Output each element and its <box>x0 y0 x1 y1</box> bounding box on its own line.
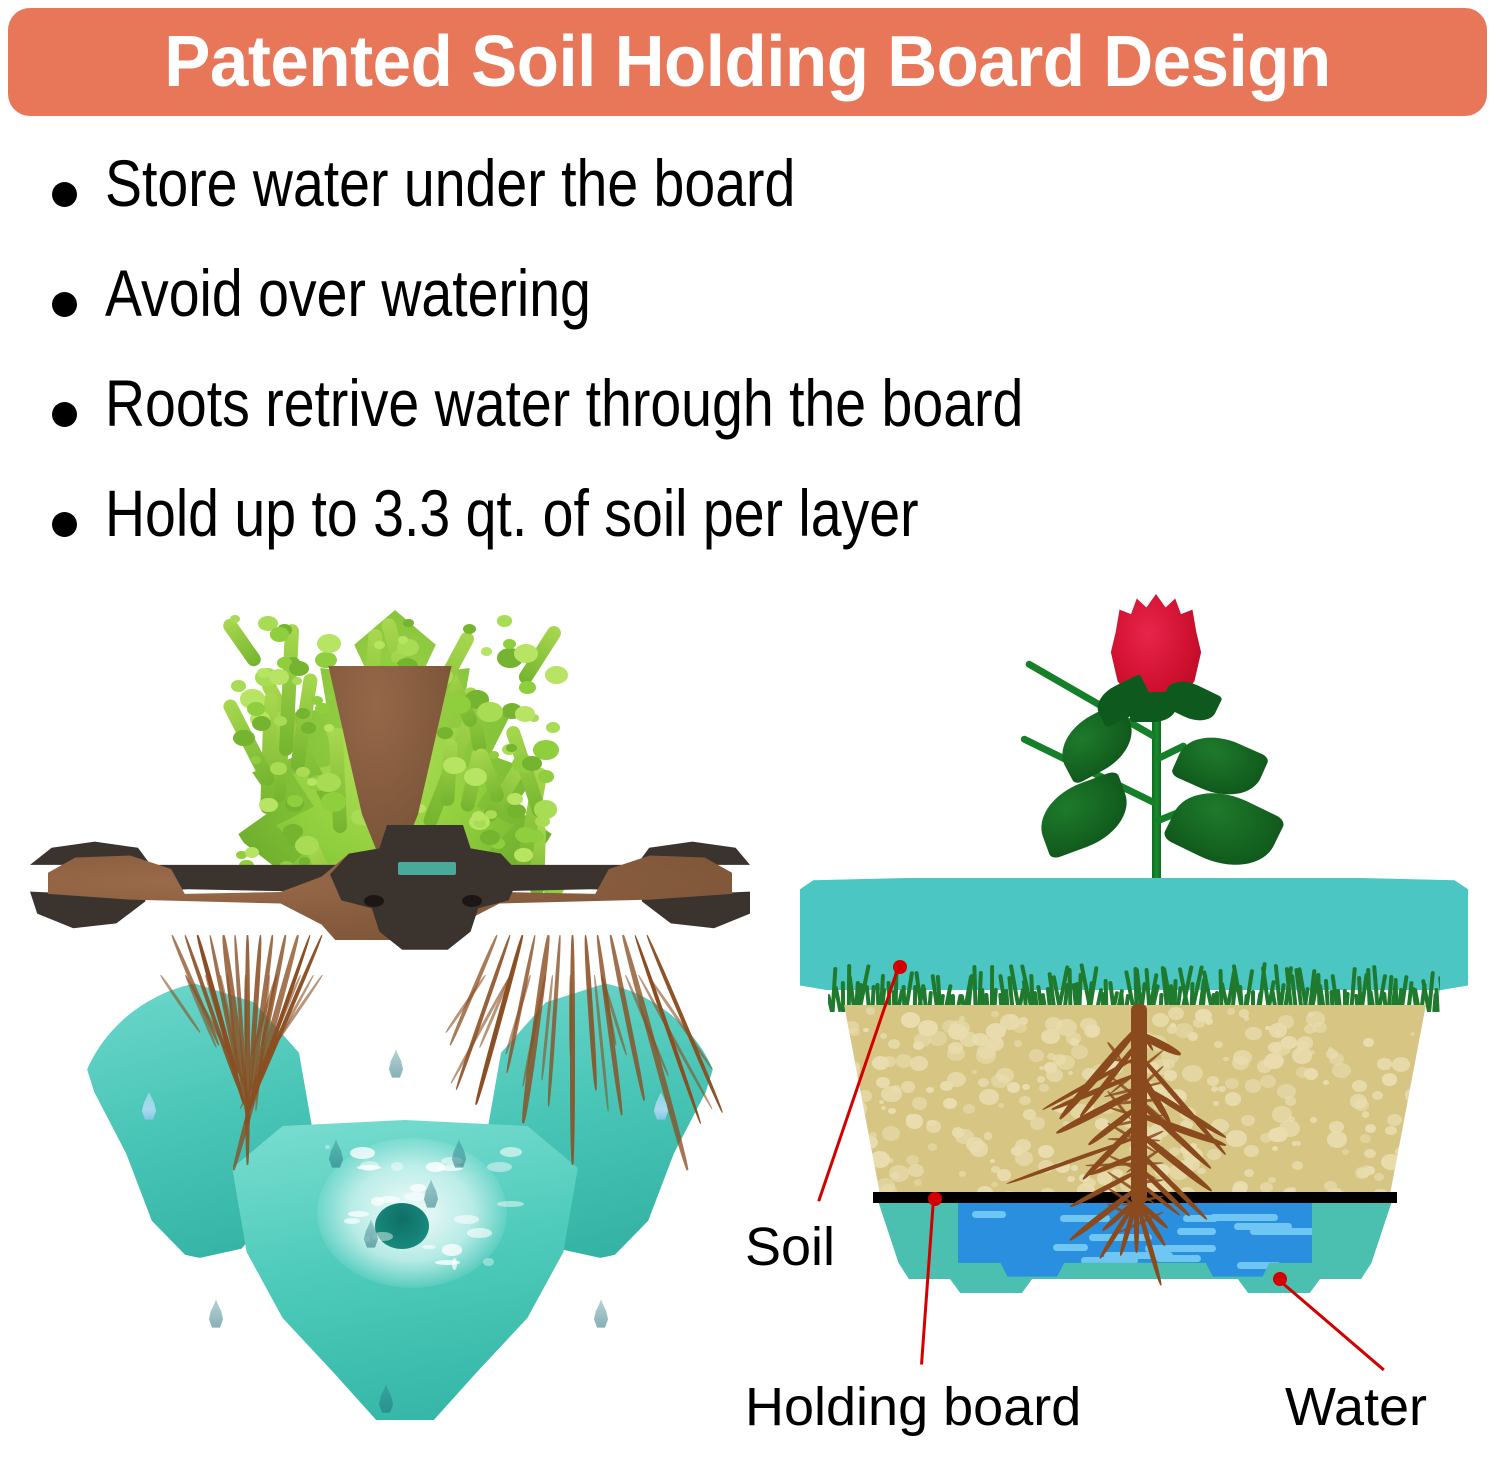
soil-speck <box>990 1159 995 1163</box>
soil-speck <box>998 1103 1004 1108</box>
soil-speck <box>1342 1149 1349 1155</box>
splash-streak <box>325 1145 330 1149</box>
callout-dot-holding-board <box>928 1192 942 1206</box>
soil-speck <box>914 1033 930 1046</box>
soil-speck <box>1328 1047 1333 1051</box>
soil-speck <box>1071 1165 1079 1171</box>
soil-speck <box>1381 1154 1401 1170</box>
soil-speck <box>838 1067 856 1081</box>
soil-speck <box>1327 1131 1347 1148</box>
soil-speck <box>858 1090 872 1102</box>
soil-speck <box>880 1033 887 1039</box>
soil-speck <box>947 1046 966 1062</box>
foliage-leaf <box>538 770 554 783</box>
list-item-label: Store water under the board <box>105 150 795 216</box>
soil-speck <box>870 1151 890 1168</box>
soil-speck <box>1218 1086 1226 1093</box>
soil-speck <box>947 1072 966 1087</box>
soil-speck <box>991 1011 999 1018</box>
soil-speck <box>1085 1024 1100 1037</box>
soil-speck <box>912 1097 928 1110</box>
foliage-leaf <box>230 615 240 623</box>
soil-speck <box>1323 1080 1329 1085</box>
foliage-leaf <box>311 696 323 705</box>
foliage-leaf <box>472 811 485 821</box>
foliage-leaf <box>231 680 247 692</box>
soil-speck <box>1399 1185 1418 1197</box>
soil-speck <box>1364 1149 1376 1159</box>
board-hole-icon <box>462 895 482 907</box>
water-wave <box>1210 1214 1277 1221</box>
soil-speck <box>1068 1071 1073 1075</box>
soil-speck <box>982 1033 1002 1049</box>
soil-speck <box>1272 1146 1278 1151</box>
soil-speck <box>1365 1124 1376 1133</box>
splash-streak <box>467 1228 491 1238</box>
soil-speck <box>1426 1023 1434 1029</box>
soil-speck <box>1207 1149 1221 1160</box>
soil-speck <box>1426 1122 1437 1131</box>
rose-sepal <box>1130 692 1176 722</box>
soil-speck <box>908 1164 924 1177</box>
foliage-leaf <box>546 722 560 733</box>
soil-speck <box>914 1179 923 1186</box>
soil-speck <box>1232 1056 1250 1070</box>
foliage-leaf <box>477 702 502 722</box>
rose-plant <box>1060 588 1260 918</box>
soil-speck <box>1226 1130 1247 1147</box>
soil-speck <box>1414 1082 1426 1092</box>
bullet-icon <box>52 402 77 427</box>
board-slot <box>398 862 456 875</box>
soil-speck <box>1015 1139 1032 1153</box>
soil-speck <box>1363 1038 1374 1047</box>
soil-speck <box>1241 1115 1255 1127</box>
soil-speck <box>1223 1057 1229 1062</box>
soil-speck <box>1296 1067 1309 1078</box>
header-banner: Patented Soil Holding Board Design <box>8 8 1487 116</box>
soil-speck <box>952 1127 965 1137</box>
soil-speck <box>979 1089 999 1105</box>
list-item: Hold up to 3.3 qt. of soil per layer <box>52 480 1472 590</box>
soil-speck <box>1401 1144 1411 1152</box>
soil-speck <box>1056 1055 1074 1070</box>
splash-streak <box>452 1258 457 1270</box>
soil-speck <box>863 1028 869 1033</box>
splash-streak <box>442 1244 463 1255</box>
soil-speck <box>1429 1155 1438 1167</box>
soil-speck <box>1357 1168 1370 1179</box>
soil-speck <box>1071 1045 1088 1059</box>
soil-speck <box>846 1195 866 1197</box>
root-strand <box>244 975 247 1056</box>
soil-speck <box>1332 1063 1351 1078</box>
soil-speck <box>896 1054 912 1067</box>
water-wave <box>1145 1245 1216 1252</box>
soil-speck <box>1428 1036 1438 1049</box>
water-wave <box>1177 1228 1216 1235</box>
soil-speck <box>1009 1014 1016 1020</box>
soil-speck <box>959 1171 966 1177</box>
foliage-leaf <box>324 724 334 732</box>
foliage-leaf <box>507 804 526 819</box>
foliage-leaf <box>443 757 466 775</box>
bullet-icon <box>52 292 77 317</box>
pot-cross-section-diagram: Soil Holding board Water <box>760 580 1500 1469</box>
soil-speck <box>1382 1073 1397 1086</box>
list-item-label: Avoid over watering <box>105 260 591 326</box>
soil-speck <box>849 1127 857 1133</box>
water-wave <box>1089 1234 1152 1241</box>
soil-speck <box>1019 1017 1029 1025</box>
soil-speck <box>1374 1173 1384 1181</box>
soil-speck <box>972 1070 977 1074</box>
rose-leaf <box>1030 770 1138 860</box>
soil-speck <box>1067 1176 1075 1182</box>
soil-speck <box>1019 1096 1031 1106</box>
list-item-label: Roots retrive water through the board <box>105 370 1023 436</box>
soil-speck <box>926 1087 934 1093</box>
soil-speck <box>1245 1027 1262 1041</box>
soil-speck <box>1207 1076 1219 1086</box>
soil-speck <box>888 1108 895 1114</box>
soil-speck <box>906 1114 916 1122</box>
foliage-leaf <box>534 800 558 818</box>
soil-speck <box>1410 1032 1415 1036</box>
soil-speck <box>1372 1091 1384 1101</box>
soil-speck <box>1014 1040 1022 1046</box>
foliage-leaf <box>545 666 568 684</box>
soil-speck <box>1427 1093 1438 1110</box>
soil-speck <box>1182 1065 1203 1082</box>
soil-speck <box>876 1064 881 1068</box>
foliage-leaf <box>259 798 278 813</box>
soil-speck <box>882 1126 900 1141</box>
splash-streak <box>454 1215 478 1224</box>
soil-speck <box>1296 1141 1302 1146</box>
soil-speck <box>901 1081 915 1093</box>
soil-speck <box>1308 1050 1314 1055</box>
bullet-icon <box>52 182 77 207</box>
soil-speck <box>1352 1080 1367 1092</box>
foliage-leaf <box>307 778 317 786</box>
soil-speck <box>978 1078 989 1087</box>
splash-streak <box>483 1258 494 1266</box>
soil-speck <box>844 1021 858 1033</box>
soil-speck <box>1414 1081 1423 1089</box>
soil-speck <box>888 1039 900 1049</box>
water-wave <box>972 1211 1006 1218</box>
splash-streak <box>404 1192 426 1201</box>
soil-speck <box>1405 1089 1417 1099</box>
soil-speck <box>1168 1007 1184 1020</box>
soil-speck <box>1415 1085 1428 1095</box>
foliage-leaf <box>481 647 493 656</box>
soil-speck <box>1329 1121 1344 1133</box>
soil-speck <box>1244 1145 1259 1157</box>
callout-line-water <box>1278 1279 1385 1371</box>
soil-speck <box>876 1077 889 1088</box>
soil-speck <box>1421 1173 1430 1181</box>
soil-speck <box>929 1031 947 1046</box>
soil-speck <box>1297 1047 1302 1051</box>
soil-speck <box>1310 1117 1317 1123</box>
water-wave <box>1104 1252 1173 1259</box>
figures-area: Soil Holding board Water <box>0 580 1500 1469</box>
callout-label-water: Water <box>1285 1380 1427 1434</box>
list-item: Store water under the board <box>52 150 1472 260</box>
foliage-leaf <box>247 702 265 716</box>
soil-speck <box>1239 1009 1249 1017</box>
soil-speck <box>872 1056 889 1070</box>
soil-speck <box>1313 1022 1326 1033</box>
splash-streak <box>410 1184 426 1192</box>
soil-speck <box>1007 1082 1020 1093</box>
soil-speck <box>881 1086 901 1103</box>
soil-speck <box>1193 1018 1205 1028</box>
soil-speck <box>1225 1092 1241 1105</box>
teal-planter <box>75 970 725 1410</box>
soil-speck <box>1292 1161 1303 1170</box>
bullet-icon <box>52 512 77 537</box>
list-item: Avoid over watering <box>52 260 1472 370</box>
foliage-leaf <box>514 644 538 663</box>
soil-speck <box>1245 1079 1261 1092</box>
soil-speck <box>1387 1114 1402 1126</box>
foliage-leaf <box>463 624 476 634</box>
soil-speck <box>1411 1134 1420 1141</box>
soil-speck <box>943 1098 957 1110</box>
soil-speck <box>901 1012 920 1028</box>
soil-speck <box>1430 1114 1438 1128</box>
foliage-leaf <box>317 634 342 653</box>
soil-speck <box>1029 1049 1045 1062</box>
foliage-leaf <box>507 793 523 806</box>
soil-speck <box>1197 1168 1205 1175</box>
foliage-leaf <box>270 627 289 642</box>
soil-speck <box>1213 1101 1218 1105</box>
soil-speck <box>991 1182 998 1188</box>
foliage-leaf <box>497 615 512 626</box>
foliage-leaf <box>374 641 384 649</box>
foliage-leaf <box>489 751 499 759</box>
soil-speck <box>1407 1143 1414 1149</box>
soil-speck <box>1385 1126 1397 1136</box>
foliage-sprig <box>220 616 263 669</box>
soil-speck <box>1395 1147 1407 1157</box>
foliage-leaf <box>289 661 309 677</box>
soil-speck <box>1377 1058 1391 1070</box>
foliage-leaf <box>315 652 337 669</box>
soil-speck <box>1360 1134 1370 1143</box>
soil-speck <box>1022 1084 1030 1090</box>
foliage-leaf <box>519 681 535 694</box>
soil-speck <box>1152 1013 1169 1027</box>
soil-speck <box>1272 1106 1292 1122</box>
product-photo-stacked-planter <box>30 580 750 1469</box>
soil-speck <box>1268 1177 1275 1183</box>
soil-speck <box>1211 1086 1218 1092</box>
soil-speck <box>1272 1041 1291 1057</box>
soil-speck <box>1269 1023 1287 1038</box>
drainage-hole <box>375 1203 429 1249</box>
soil-speck <box>1257 1060 1272 1072</box>
soil-speck <box>991 1166 1000 1173</box>
root-strand <box>569 975 572 1056</box>
soil-speck <box>1362 1111 1369 1117</box>
soil-speck <box>926 1120 941 1132</box>
soil-speck <box>1244 1169 1255 1178</box>
soil-speck <box>1205 1018 1213 1025</box>
soil-speck <box>858 1120 863 1124</box>
soil-speck <box>1214 1041 1223 1048</box>
soil-speck <box>1413 1110 1421 1117</box>
foliage-leaf <box>321 792 346 812</box>
foliage-leaf <box>398 636 408 644</box>
water-wave <box>1053 1244 1088 1251</box>
soil-speck <box>928 1143 938 1151</box>
feature-list: Store water under the board Avoid over w… <box>52 150 1472 590</box>
soil-speck <box>837 1017 845 1023</box>
soil-speck <box>879 1100 884 1104</box>
foliage-leaf <box>446 695 471 714</box>
soil-speck <box>1225 1078 1239 1089</box>
water-wave <box>1250 1228 1321 1235</box>
soil-speck <box>984 1132 993 1139</box>
soil-speck <box>1350 1094 1368 1108</box>
soil-speck <box>866 1007 875 1014</box>
foliage-leaf <box>270 762 286 775</box>
soil-speck <box>1045 1017 1062 1031</box>
splash-streak <box>422 1245 436 1249</box>
callout-label-soil: Soil <box>745 1220 835 1274</box>
soil-speck <box>1038 1145 1054 1158</box>
foliage-leaf <box>522 756 541 771</box>
soil-speck <box>910 1056 928 1070</box>
soil-speck <box>963 1104 975 1114</box>
soil-speck <box>1164 1070 1177 1081</box>
soil-speck <box>1039 1084 1049 1093</box>
foliage-leaf <box>292 677 302 685</box>
soil-speck <box>1419 1116 1438 1133</box>
soil-speck <box>1030 1117 1045 1130</box>
list-item-label: Hold up to 3.3 qt. of soil per layer <box>105 480 919 546</box>
soil-speck <box>1405 1179 1412 1185</box>
foliage-leaf <box>316 773 341 792</box>
soil-speck <box>1260 1075 1275 1088</box>
list-item: Roots retrive water through the board <box>52 370 1472 480</box>
foliage-leaf <box>233 730 255 747</box>
board-hole-icon <box>364 895 384 907</box>
soil-speck <box>881 1106 886 1110</box>
splash-streak <box>487 1162 511 1172</box>
page-title: Patented Soil Holding Board Design <box>164 26 1330 98</box>
soil-speck <box>1426 1043 1438 1057</box>
foliage-leaf <box>506 744 516 752</box>
soil-speck <box>1037 1076 1046 1083</box>
soil-speck <box>1227 1008 1235 1015</box>
foliage-leaf <box>296 767 310 778</box>
callout-label-holding-board: Holding board <box>745 1380 1081 1434</box>
foliage-leaf <box>503 639 516 649</box>
soil-speck <box>1039 1066 1044 1070</box>
splash-streak <box>350 1147 374 1159</box>
soil-speck <box>1428 1107 1438 1123</box>
soil-speck <box>1392 1057 1410 1072</box>
